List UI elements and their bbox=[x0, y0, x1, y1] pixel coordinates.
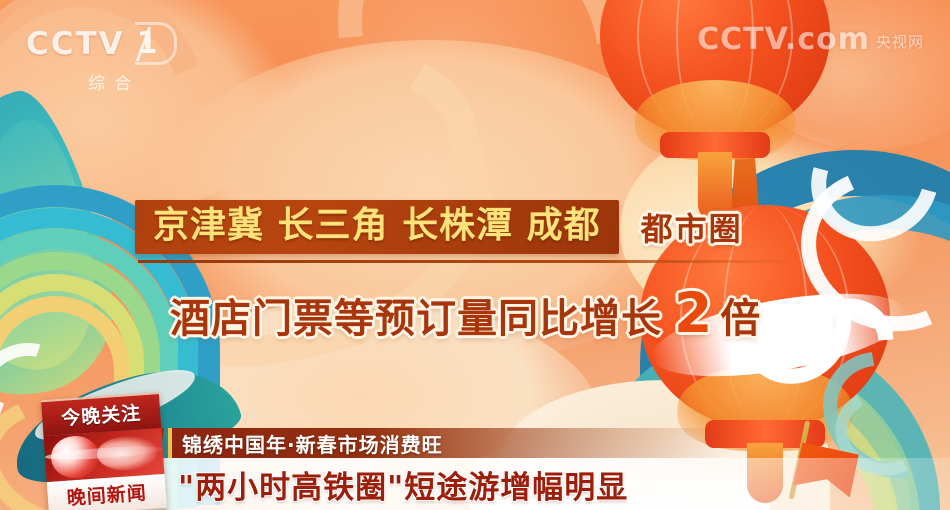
headline-underline bbox=[138, 260, 798, 263]
program-subtitle-bar: 锦绣中国年·新春市场消费旺 bbox=[168, 428, 728, 458]
cctv-wordmark: CCTV bbox=[26, 26, 125, 62]
headline-block: 京津冀 长三角 长株潭 成都 都市圈 酒店门票等预订量同比增长 2 倍 bbox=[0, 200, 950, 345]
main-headline-bar: "两小时高铁圈"短途游增幅明显 bbox=[150, 458, 950, 510]
main-headline: "两小时高铁圈"短途游增幅明显 bbox=[150, 462, 628, 507]
headline-line-2: 酒店门票等预订量同比增长 2 倍 bbox=[0, 281, 950, 345]
growth-multiple-number: 2 bbox=[674, 281, 712, 345]
globe-icon bbox=[44, 428, 165, 482]
cctv-com-watermark: CCTV.com 央视网 bbox=[697, 22, 924, 57]
lower-third: 锦绣中国年·新春市场消费旺 "两小时高铁圈"短途游增幅明显 今晚关注 晚间新闻 bbox=[0, 400, 950, 510]
red-lantern-icon bbox=[600, 0, 830, 140]
subtitle-accent bbox=[168, 428, 172, 458]
growth-multiple-unit: 倍 bbox=[720, 286, 761, 344]
watermark-chinese: 央视网 bbox=[876, 31, 924, 57]
channel-subtitle: 综合 bbox=[26, 69, 177, 94]
cctv-channel-logo: CCTV 1 综合 bbox=[26, 22, 177, 94]
watermark-url: CCTV.com bbox=[697, 22, 870, 57]
booking-growth-text: 酒店门票等预订量同比增长 bbox=[170, 286, 662, 344]
cloud-blob-top bbox=[300, 0, 600, 120]
news-program-badge: 今晚关注 晚间新闻 bbox=[41, 392, 167, 510]
regions-text: 京津冀 长三角 长株潭 成都 bbox=[153, 205, 601, 246]
metro-circle-label: 都市圈 bbox=[641, 204, 743, 250]
program-subtitle: 锦绣中国年·新春市场消费旺 bbox=[168, 429, 443, 458]
regions-bar: 京津冀 长三角 长株潭 成都 bbox=[135, 200, 619, 254]
tv-broadcast-frame: CCTV 1 综合 CCTV.com 央视网 京津冀 长三角 长株潭 成都 都市… bbox=[0, 0, 950, 510]
headline-line-1: 京津冀 长三角 长株潭 成都 都市圈 bbox=[0, 200, 950, 254]
